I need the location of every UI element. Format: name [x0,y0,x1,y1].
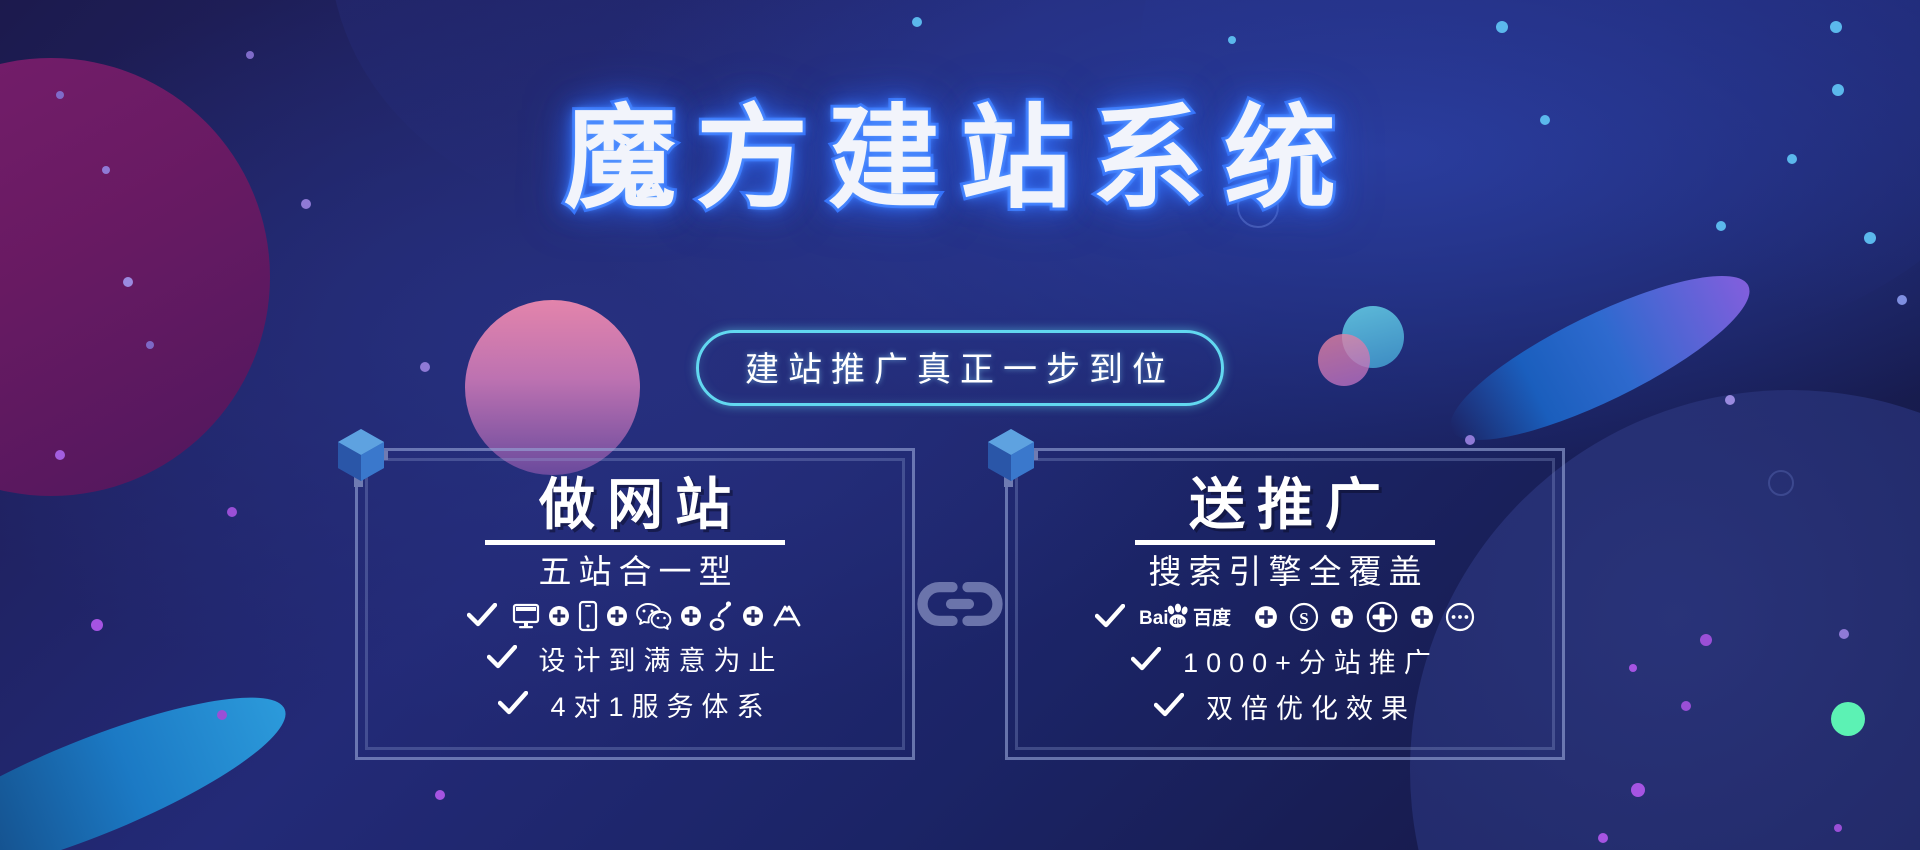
feature-row-left-2: 4对1服务体系 [498,685,771,724]
plus-circle-icon [1330,605,1354,629]
dot-decoration [1228,36,1236,44]
dot-decoration [1465,435,1475,445]
panel-divider-left [485,540,785,545]
check-icon [467,603,497,629]
dot-decoration [1834,824,1842,832]
dot-decoration [1496,21,1508,33]
feature-text-left-2: 4对1服务体系 [542,685,771,724]
music-note-icon [709,600,735,632]
page-title: 魔方建站系统 [564,96,1356,221]
panel-subheading-left: 五站合一型 [532,551,739,592]
check-icon [1131,647,1161,673]
search-engine-icon-row: Bai du 百度 [1139,600,1475,634]
dot-decoration [420,362,430,372]
link-icon-gap [915,575,1005,633]
panel-heading-left: 做网站 [527,475,743,535]
dot-decoration [246,51,254,59]
check-icon [1154,693,1184,719]
mobile-phone-icon [577,600,599,632]
link-chain-icon [915,575,1005,633]
more-ellipsis-icon [1445,602,1475,632]
dot-decoration [123,277,133,287]
baidu-logo-icon: Bai du 百度 [1139,603,1243,631]
dot-decoration [1598,833,1608,843]
qihoo360-logo-icon [1365,600,1399,634]
dot-decoration [146,341,154,349]
rose-sphere-decoration [1318,334,1370,386]
panel-divider-right [1135,540,1435,545]
dot-decoration [1830,21,1842,33]
plus-circle-icon [1254,605,1278,629]
dot-decoration [912,17,922,27]
dot-decoration [1832,84,1844,96]
platform-icon-row [511,600,803,632]
panel-subheading-right: 搜索引擎全覆盖 [1142,551,1429,592]
feature-row-left-1: 设计到满意为止 [487,639,784,678]
feature-row-right-1: 1000+分站推广 [1131,641,1439,680]
plus-circle-icon [1410,605,1434,629]
svg-text:百度: 百度 [1193,606,1232,629]
svg-text:S: S [1299,609,1308,628]
check-icon [487,645,517,671]
feature-panels: 做网站 五站合一型 [0,448,1920,760]
subtitle-text: 建站推广真正一步到位 [745,351,1175,389]
promo-banner: 魔方建站系统 建站推广真正一步到位 做网站 五站合一型 [0,0,1920,850]
sogou-logo-icon: S [1289,602,1319,632]
desktop-monitor-icon [511,601,541,631]
dot-decoration [435,790,445,800]
dot-decoration [1716,221,1726,231]
dot-decoration [1897,295,1907,305]
dot-decoration [1864,232,1876,244]
plus-circle-icon [742,605,764,627]
plus-circle-icon [548,605,570,627]
feature-text-left-1: 设计到满意为止 [531,639,784,678]
dot-decoration [1725,395,1735,405]
panel-inner-left: 做网站 五站合一型 [365,458,905,750]
subtitle-pill: 建站推广真正一步到位 [696,330,1224,406]
panel-build-website: 做网站 五站合一型 [355,448,915,760]
plus-circle-icon [606,605,628,627]
feature-row-right-2: 双倍优化效果 [1154,687,1416,726]
feature-row-icons-left [467,600,803,632]
title-block: 魔方建站系统 [0,96,1920,221]
feature-text-right-2: 双倍优化效果 [1198,687,1416,726]
panel-inner-right: 送推广 搜索引擎全覆盖 Bai [1015,458,1555,750]
app-store-icon [771,602,803,630]
panel-free-promotion: 送推广 搜索引擎全覆盖 Bai [1005,448,1565,760]
wechat-icon [635,601,673,631]
check-icon [1095,604,1125,630]
svg-text:Bai: Bai [1139,608,1169,629]
dot-decoration [1631,783,1645,797]
check-icon [498,691,528,717]
feature-row-icons-right: Bai du 百度 [1095,600,1475,634]
plus-circle-icon [680,605,702,627]
svg-text:du: du [1173,616,1183,626]
panel-heading-right: 送推广 [1177,475,1393,535]
feature-text-right-1: 1000+分站推广 [1175,641,1439,680]
